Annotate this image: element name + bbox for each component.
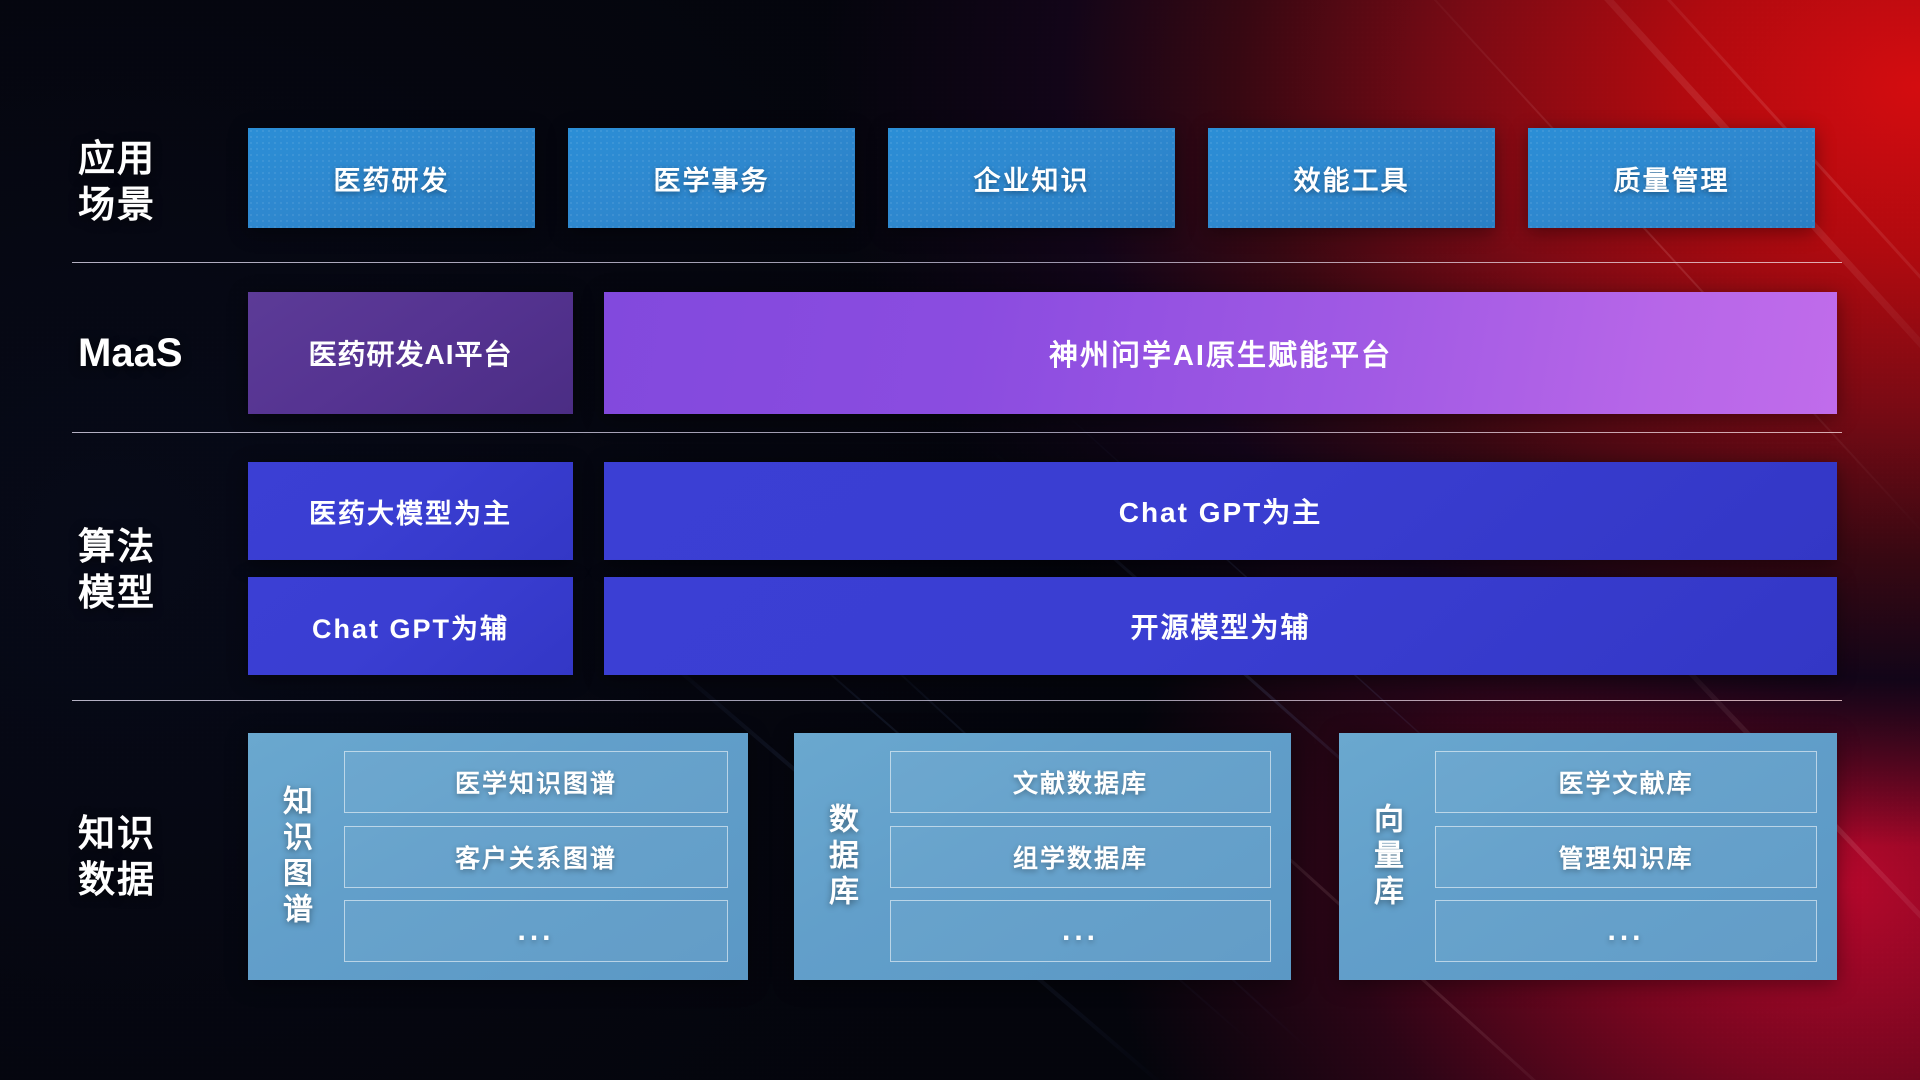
maas-box-label: 神州问学AI原生赋能平台 bbox=[1049, 332, 1392, 374]
divider-maas-algorithms bbox=[72, 432, 1842, 433]
row-label-algorithms: 算法 模型 bbox=[78, 524, 258, 616]
app-box-label: 企业知识 bbox=[974, 159, 1090, 198]
row-label-applications: 应用 场景 bbox=[78, 136, 258, 228]
architecture-diagram-canvas: 应用 场景 医药研发 医学事务 企业知识 效能工具 质量管理 bbox=[0, 0, 1920, 1080]
algo-box-opensource-secondary[interactable]: 开源模型为辅 bbox=[604, 577, 1837, 675]
row-label-knowledge: 知识 数据 bbox=[78, 811, 258, 903]
knowledge-item-more[interactable]: ... bbox=[1435, 900, 1817, 962]
app-box-label: 质量管理 bbox=[1614, 159, 1730, 198]
knowledge-item-omics-database[interactable]: 组学数据库 bbox=[890, 826, 1271, 888]
knowledge-item-customer-relation-graph[interactable]: 客户关系图谱 bbox=[344, 826, 728, 888]
app-box-efficiency-tools[interactable]: 效能工具 bbox=[1208, 128, 1495, 228]
knowledge-item-more[interactable]: ... bbox=[344, 900, 728, 962]
algo-box-drug-large-model-primary[interactable]: 医药大模型为主 bbox=[248, 462, 573, 560]
app-box-label: 医药研发 bbox=[334, 159, 450, 198]
knowledge-item-label: 医学文献库 bbox=[1558, 764, 1693, 800]
knowledge-item-medical-literature-library[interactable]: 医学文献库 bbox=[1435, 751, 1817, 813]
knowledge-item-label: ... bbox=[1062, 914, 1099, 948]
algo-box-chatgpt-primary[interactable]: Chat GPT为主 bbox=[604, 462, 1837, 560]
diagram-content: 应用 场景 医药研发 医学事务 企业知识 效能工具 质量管理 bbox=[0, 0, 1920, 1080]
knowledge-group-title: 数据库 bbox=[812, 747, 868, 966]
algo-box-label: Chat GPT为主 bbox=[1119, 491, 1323, 531]
app-box-enterprise-knowledge[interactable]: 企业知识 bbox=[888, 128, 1175, 228]
knowledge-item-label: 组学数据库 bbox=[1013, 839, 1148, 875]
divider-algorithms-knowledge bbox=[72, 700, 1842, 701]
maas-box-shenzhou-wenxue-platform[interactable]: 神州问学AI原生赋能平台 bbox=[604, 292, 1837, 414]
knowledge-item-label: ... bbox=[517, 914, 554, 948]
knowledge-group-title: 知识图谱 bbox=[266, 747, 322, 966]
application-box-list: 医药研发 医学事务 企业知识 效能工具 质量管理 bbox=[248, 128, 1815, 228]
knowledge-item-management-knowledge-library[interactable]: 管理知识库 bbox=[1435, 826, 1817, 888]
knowledge-group-database[interactable]: 数据库 文献数据库 组学数据库 ... bbox=[794, 733, 1291, 980]
knowledge-group-title: 向量库 bbox=[1357, 747, 1413, 966]
knowledge-item-list: 医学知识图谱 客户关系图谱 ... bbox=[322, 747, 734, 966]
knowledge-item-medical-knowledge-graph[interactable]: 医学知识图谱 bbox=[344, 751, 728, 813]
algo-box-chatgpt-secondary[interactable]: Chat GPT为辅 bbox=[248, 577, 573, 675]
knowledge-item-more[interactable]: ... bbox=[890, 900, 1271, 962]
knowledge-item-list: 文献数据库 组学数据库 ... bbox=[868, 747, 1277, 966]
app-box-label: 效能工具 bbox=[1294, 159, 1410, 198]
knowledge-group-vector-database[interactable]: 向量库 医学文献库 管理知识库 ... bbox=[1339, 733, 1837, 980]
app-box-medical-affairs[interactable]: 医学事务 bbox=[568, 128, 855, 228]
maas-box-label: 医药研发AI平台 bbox=[308, 333, 512, 373]
maas-box-drug-rd-ai-platform[interactable]: 医药研发AI平台 bbox=[248, 292, 573, 414]
knowledge-item-label: ... bbox=[1607, 914, 1644, 948]
app-box-label: 医学事务 bbox=[654, 159, 770, 198]
knowledge-item-label: 客户关系图谱 bbox=[455, 839, 617, 875]
knowledge-item-literature-database[interactable]: 文献数据库 bbox=[890, 751, 1271, 813]
algo-box-label: 医药大模型为主 bbox=[309, 492, 512, 531]
app-box-drug-rd[interactable]: 医药研发 bbox=[248, 128, 535, 228]
row-label-maas: MaaS bbox=[78, 330, 258, 376]
knowledge-group-knowledge-graph[interactable]: 知识图谱 医学知识图谱 客户关系图谱 ... bbox=[248, 733, 748, 980]
knowledge-item-label: 医学知识图谱 bbox=[455, 764, 617, 800]
algo-box-label: 开源模型为辅 bbox=[1130, 606, 1310, 646]
knowledge-item-label: 文献数据库 bbox=[1013, 764, 1148, 800]
app-box-quality-management[interactable]: 质量管理 bbox=[1528, 128, 1815, 228]
knowledge-item-list: 医学文献库 管理知识库 ... bbox=[1413, 747, 1823, 966]
divider-applications-maas bbox=[72, 262, 1842, 263]
knowledge-item-label: 管理知识库 bbox=[1558, 839, 1693, 875]
algo-box-label: Chat GPT为辅 bbox=[312, 607, 509, 646]
